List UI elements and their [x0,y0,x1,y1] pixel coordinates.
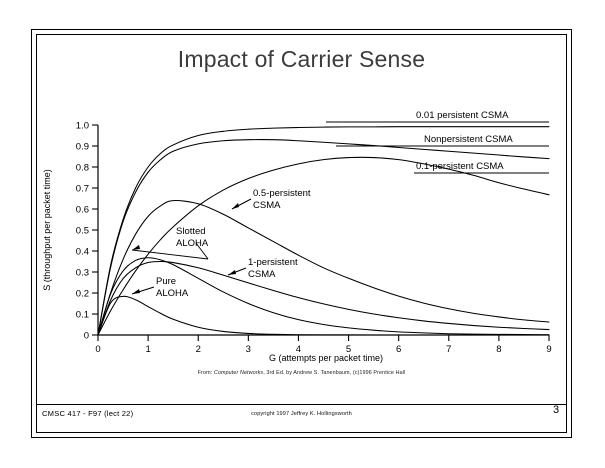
attribution-text: From: Computer Networks, 3rd Ed. by Andr… [36,370,567,376]
y-tick-label: 0.3 [76,267,89,278]
annotation-csma05: 0.5-persistent CSMA [232,188,311,211]
y-axis-tick-labels: 00.10.20.30.40.50.60.70.80.91.0 [76,120,89,341]
curve-pure-aloha [98,296,549,335]
annotation-csma05-line1: 0.5-persistent [253,188,311,199]
attribution-prefix: From: [198,370,214,376]
x-tick-label: 7 [446,344,451,355]
annotation-csma01: 0.1-persistent CSMA [416,161,504,172]
y-tick-label: 0.2 [76,288,89,299]
y-tick-label: 0.9 [76,141,89,152]
y-tick-label: 0.5 [76,225,89,236]
chart-curves [98,122,549,335]
x-tick-label: 6 [396,344,401,355]
annotation-nonpersistent-label: Nonpersistent CSMA [424,134,513,145]
annotation-csma1-line2: CSMA [248,269,276,280]
curve-0-5-persistent-csma [98,201,549,335]
y-tick-label: 0.6 [76,204,89,215]
annotation-slotted-line2: ALOHA [176,238,209,249]
y-axis-label: S (throughput per packet time) [42,169,52,291]
footer-divider [36,404,567,405]
annotation-pure: Pure ALOHA [132,276,189,299]
annotation-csma001: 0.01 persistent CSMA [416,110,509,121]
annotation-slotted: Slotted ALOHA [132,226,209,259]
slide: Impact of Carrier Sense 00.10.20.30.40.5… [0,0,605,468]
y-tick-label: 0.8 [76,162,89,173]
x-tick-label: 8 [496,344,501,355]
annotation-pure-line1: Pure [156,276,176,287]
attribution-suffix: , 3rd Ed. by Andrew S. Tanenbaum, (c)199… [263,370,405,376]
annotation-nonpersistent: Nonpersistent CSMA [424,134,513,145]
y-tick-label: 0.7 [76,183,89,194]
x-tick-label: 9 [546,344,551,355]
chart-carrier-sense: 00.10.20.30.40.50.60.70.80.91.0 01234567… [36,96,567,381]
x-axis-label: G (attempts per packet time) [269,353,383,363]
y-tick-label: 1.0 [76,120,89,131]
annotation-csma05-line2: CSMA [253,200,281,211]
annotation-csma1: 1-persistent CSMA [228,257,298,280]
x-tick-label: 2 [196,344,201,355]
chart-svg: 00.10.20.30.40.50.60.70.80.91.0 01234567… [36,96,567,381]
x-axis-ticks [98,335,549,341]
annotation-csma01-label: 0.1-persistent CSMA [416,161,504,172]
y-axis-ticks [92,125,98,335]
annotation-pure-line2: ALOHA [156,288,189,299]
x-tick-label: 1 [145,344,150,355]
annotation-csma001-label: 0.01 persistent CSMA [416,110,509,121]
page-number: 3 [545,404,567,416]
attribution-book-title: Computer Networks [214,370,263,376]
annotation-slotted-line1: Slotted [176,226,206,237]
curve-0-1-persistent-csma [98,157,549,335]
y-tick-label: 0.1 [76,309,89,320]
y-tick-label: 0.4 [76,246,89,257]
x-tick-label: 0 [95,344,100,355]
page-title: Impact of Carrier Sense [36,46,567,73]
footer-copyright: copyright 1997 Jeffrey K. Hollingsworth [36,411,567,417]
annotation-csma1-line1: 1-persistent [248,257,298,268]
x-tick-label: 3 [246,344,251,355]
y-tick-label: 0 [84,330,89,341]
